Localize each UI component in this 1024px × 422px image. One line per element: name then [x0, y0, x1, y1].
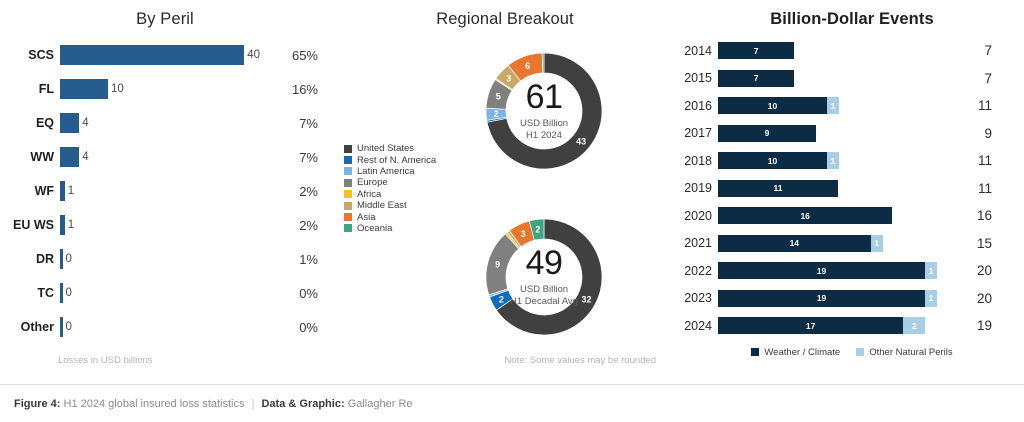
bde-legend-item[interactable]: Weather / Climate: [751, 347, 840, 358]
donut-svg: 322932: [471, 204, 617, 350]
year-label: 2018: [680, 154, 718, 168]
legend-color-swatch-icon: [344, 179, 352, 187]
peril-value-label: 10: [108, 83, 124, 95]
bar-segment-value: 1: [929, 293, 934, 303]
donut-slice-label: 3: [506, 73, 511, 83]
peril-row: Other00%: [0, 310, 330, 344]
bar-segment-weather-climate: 19: [718, 290, 925, 307]
peril-bar: [60, 147, 79, 167]
caption-source-text: Gallagher Re: [348, 398, 413, 410]
donut-svg: 432536: [471, 38, 617, 184]
peril-label: Other: [0, 320, 60, 334]
peril-bar-track: 1: [60, 215, 260, 235]
peril-bar-track: 4: [60, 147, 260, 167]
peril-label: EU WS: [0, 218, 60, 232]
peril-row: DR01%: [0, 242, 330, 276]
bde-legend-label: Weather / Climate: [764, 347, 840, 358]
peril-bar-track: 40: [60, 45, 260, 65]
row-total-label: 7: [950, 71, 992, 86]
billion-dollar-events-bar-list: 2014772015772016101112017992018101112019…: [680, 37, 1024, 340]
peril-label: EQ: [0, 116, 60, 130]
peril-row: WF12%: [0, 174, 330, 208]
bar-segment-other-natural-perils: 1: [925, 290, 937, 307]
row-total-label: 20: [950, 291, 992, 306]
row-total-label: 19: [950, 318, 992, 333]
peril-percent-label: 1%: [260, 252, 318, 267]
stacked-bar-track: 141: [718, 235, 950, 252]
peril-label: FL: [0, 82, 60, 96]
year-label: 2019: [680, 181, 718, 195]
bar-segment-value: 1: [929, 266, 934, 276]
stacked-bar-track: 101: [718, 97, 950, 114]
caption-figure-label: Figure 4:: [14, 398, 60, 410]
peril-percent-label: 16%: [260, 82, 318, 97]
billion-dollar-events-row: 201810111: [680, 147, 1024, 175]
figure-caption: Figure 4: H1 2024 global insured loss st…: [14, 398, 413, 410]
bar-segment-weather-climate: 16: [718, 207, 892, 224]
legend-color-swatch-icon: [344, 167, 352, 175]
billion-dollar-events-row: 201577: [680, 65, 1024, 93]
row-total-label: 9: [950, 126, 992, 141]
bar-segment-value: 10: [768, 156, 777, 166]
stacked-bar-track: 191: [718, 290, 950, 307]
bar-segment-value: 10: [768, 101, 777, 111]
caption-source-label: Data & Graphic:: [261, 398, 344, 410]
bar-segment-weather-climate: 14: [718, 235, 871, 252]
year-label: 2023: [680, 291, 718, 305]
bde-legend-item[interactable]: Other Natural Perils: [856, 347, 952, 358]
billion-dollar-events-row: 202114115: [680, 230, 1024, 258]
bar-segment-value: 14: [790, 238, 799, 248]
peril-row: TC00%: [0, 276, 330, 310]
panel-title-by-peril: By Peril: [0, 0, 330, 29]
donut-slice-label: 6: [525, 61, 530, 71]
donut-slice-label: 9: [495, 260, 500, 270]
bar-segment-other-natural-perils: 1: [827, 152, 839, 169]
peril-percent-label: 65%: [260, 48, 318, 63]
row-total-label: 11: [950, 153, 992, 168]
bar-segment-weather-climate: 17: [718, 317, 903, 334]
bar-segment-other-natural-perils: 1: [827, 97, 839, 114]
bar-segment-weather-climate: 11: [718, 180, 838, 197]
bar-segment-value: 1: [831, 156, 836, 166]
row-total-label: 16: [950, 208, 992, 223]
regional-legend-label: Latin America: [357, 166, 415, 177]
legend-color-swatch-icon: [344, 202, 352, 210]
donut-slice-label: 3: [521, 229, 526, 239]
year-label: 2024: [680, 319, 718, 333]
billion-dollar-events-row: 20201616: [680, 202, 1024, 230]
peril-row: WW47%: [0, 140, 330, 174]
regional-legend-item[interactable]: Middle East: [344, 200, 436, 211]
donut-slice-label: 2: [535, 225, 540, 235]
legend-color-swatch-icon: [751, 348, 759, 356]
donut-slice-label: 2: [499, 294, 504, 304]
stacked-bar-track: 7: [718, 42, 950, 59]
regional-legend-item[interactable]: Europe: [344, 177, 436, 188]
bar-segment-value: 2: [912, 321, 917, 331]
peril-bar-track: 4: [60, 113, 260, 133]
legend-color-swatch-icon: [344, 213, 352, 221]
row-total-label: 11: [950, 181, 992, 196]
bar-segment-other-natural-perils: 2: [903, 317, 925, 334]
panel-billion-dollar-events: Billion-Dollar Events 201477201577201610…: [680, 0, 1024, 384]
bar-segment-value: 19: [817, 266, 826, 276]
bar-segment-weather-climate: 19: [718, 262, 925, 279]
peril-value-label: 0: [63, 253, 72, 265]
year-label: 2014: [680, 44, 718, 58]
regional-legend-label: Middle East: [357, 200, 407, 211]
regional-legend-label: Oceania: [357, 223, 392, 234]
peril-label: DR: [0, 252, 60, 266]
billion-dollar-events-row: 202417219: [680, 312, 1024, 340]
donut-slice-label: 32: [582, 294, 592, 304]
bar-segment-value: 7: [754, 73, 759, 83]
bar-segment-value: 17: [806, 321, 815, 331]
regional-legend-label: United States: [357, 143, 414, 154]
year-label: 2015: [680, 71, 718, 85]
stacked-bar-track: 11: [718, 180, 950, 197]
donut-slice-label: 2: [494, 109, 499, 119]
year-label: 2022: [680, 264, 718, 278]
caption-separator: |: [248, 398, 259, 410]
year-label: 2020: [680, 209, 718, 223]
regional-legend-label: Africa: [357, 189, 381, 200]
stacked-bar-track: 101: [718, 152, 950, 169]
caption-divider: [0, 384, 1024, 385]
donut-chart-h1-2024: 432536 61 USD Billion H1 2024: [471, 38, 617, 184]
bar-segment-other-natural-perils: 1: [871, 235, 883, 252]
panel-title-billion-dollar-events: Billion-Dollar Events: [680, 0, 1024, 29]
peril-bar-track: 0: [60, 249, 260, 269]
peril-percent-label: 0%: [260, 286, 318, 301]
caption-figure-text: H1 2024 global insured loss statistics: [64, 398, 245, 410]
stacked-bar-track: 7: [718, 70, 950, 87]
regional-legend-item[interactable]: Asia: [344, 211, 436, 222]
peril-bar-track: 10: [60, 79, 260, 99]
legend-color-swatch-icon: [344, 190, 352, 198]
peril-bar: [60, 45, 244, 65]
peril-bar-track: 1: [60, 181, 260, 201]
legend-color-swatch-icon: [344, 224, 352, 232]
bar-segment-value: 7: [754, 46, 759, 56]
legend-color-swatch-icon: [344, 156, 352, 164]
donut-chart-decadal-avg: 322932 49 USD Billion H1 Decadal Avg: [471, 204, 617, 350]
row-total-label: 20: [950, 263, 992, 278]
bar-segment-weather-climate: 10: [718, 152, 827, 169]
regional-legend-label: Europe: [357, 177, 388, 188]
regional-legend-item[interactable]: Oceania: [344, 223, 436, 234]
peril-label: SCS: [0, 48, 60, 62]
regional-legend-item[interactable]: Africa: [344, 189, 436, 200]
bar-segment-value: 9: [765, 128, 770, 138]
bde-legend-label: Other Natural Perils: [869, 347, 952, 358]
regional-legend-label: Rest of N. America: [357, 155, 436, 166]
peril-label: TC: [0, 286, 60, 300]
year-label: 2017: [680, 126, 718, 140]
peril-row: EQ47%: [0, 106, 330, 140]
peril-percent-label: 0%: [260, 320, 318, 335]
regional-legend-label: Asia: [357, 212, 375, 223]
peril-label: WW: [0, 150, 60, 164]
donut-slice: [542, 53, 544, 73]
regional-legend-item[interactable]: Rest of N. America: [344, 154, 436, 165]
peril-value-label: 4: [79, 117, 88, 129]
bar-segment-value: 1: [831, 101, 836, 111]
peril-value-label: 1: [65, 219, 74, 231]
row-total-label: 7: [950, 43, 992, 58]
panel-regional-breakout: Regional Breakout 432536 61 USD Billion …: [330, 0, 680, 384]
peril-bar-track: 0: [60, 317, 260, 337]
billion-dollar-events-row: 201799: [680, 120, 1024, 148]
stacked-bar-track: 191: [718, 262, 950, 279]
billion-dollar-events-row: 202319120: [680, 285, 1024, 313]
regional-legend: United StatesRest of N. AmericaLatin Ame…: [344, 143, 436, 234]
regional-legend-item[interactable]: Latin America: [344, 166, 436, 177]
stacked-bar-track: 9: [718, 125, 950, 142]
peril-row: EU WS12%: [0, 208, 330, 242]
billion-dollar-events-row: 201610111: [680, 92, 1024, 120]
bar-segment-weather-climate: 10: [718, 97, 827, 114]
by-peril-footnote: Losses in USD billions: [58, 355, 153, 366]
bar-segment-other-natural-perils: 1: [925, 262, 937, 279]
peril-percent-label: 7%: [260, 150, 318, 165]
legend-color-swatch-icon: [856, 348, 864, 356]
donut-slice-label: 43: [576, 137, 586, 147]
peril-label: WF: [0, 184, 60, 198]
panel-title-regional-breakout: Regional Breakout: [330, 0, 680, 29]
peril-row: SCS4065%: [0, 38, 330, 72]
peril-row: FL1016%: [0, 72, 330, 106]
bar-segment-weather-climate: 7: [718, 42, 794, 59]
donut-slice-label: 5: [496, 92, 501, 102]
peril-value-label: 1: [65, 185, 74, 197]
bar-segment-value: 1: [874, 238, 879, 248]
bar-segment-value: 16: [800, 211, 809, 221]
billion-dollar-events-row: 201477: [680, 37, 1024, 65]
peril-percent-label: 2%: [260, 184, 318, 199]
peril-bar-track: 0: [60, 283, 260, 303]
stacked-bar-track: 16: [718, 207, 950, 224]
row-total-label: 15: [950, 236, 992, 251]
peril-percent-label: 2%: [260, 218, 318, 233]
peril-value-label: 4: [79, 151, 88, 163]
panel-by-peril: By Peril SCS4065%FL1016%EQ47%WW47%WF12%E…: [0, 0, 330, 384]
bar-segment-weather-climate: 7: [718, 70, 794, 87]
peril-value-label: 40: [244, 49, 260, 61]
peril-bar: [60, 79, 108, 99]
stacked-bar-track: 172: [718, 317, 950, 334]
billion-dollar-events-legend: Weather / ClimateOther Natural Perils: [680, 347, 1024, 358]
bar-segment-value: 19: [817, 293, 826, 303]
billion-dollar-events-row: 20191111: [680, 175, 1024, 203]
peril-value-label: 0: [63, 321, 72, 333]
row-total-label: 11: [950, 98, 992, 113]
by-peril-bar-list: SCS4065%FL1016%EQ47%WW47%WF12%EU WS12%DR…: [0, 38, 330, 344]
regional-legend-item[interactable]: United States: [344, 143, 436, 154]
peril-bar: [60, 113, 79, 133]
peril-value-label: 0: [63, 287, 72, 299]
bar-segment-value: 11: [773, 183, 782, 193]
year-label: 2021: [680, 236, 718, 250]
regional-footnote: Note: Some values may be rounded: [504, 355, 656, 366]
legend-color-swatch-icon: [344, 145, 352, 153]
peril-percent-label: 7%: [260, 116, 318, 131]
figure-container: By Peril SCS4065%FL1016%EQ47%WW47%WF12%E…: [0, 0, 1024, 422]
billion-dollar-events-row: 202219120: [680, 257, 1024, 285]
bar-segment-weather-climate: 9: [718, 125, 816, 142]
year-label: 2016: [680, 99, 718, 113]
